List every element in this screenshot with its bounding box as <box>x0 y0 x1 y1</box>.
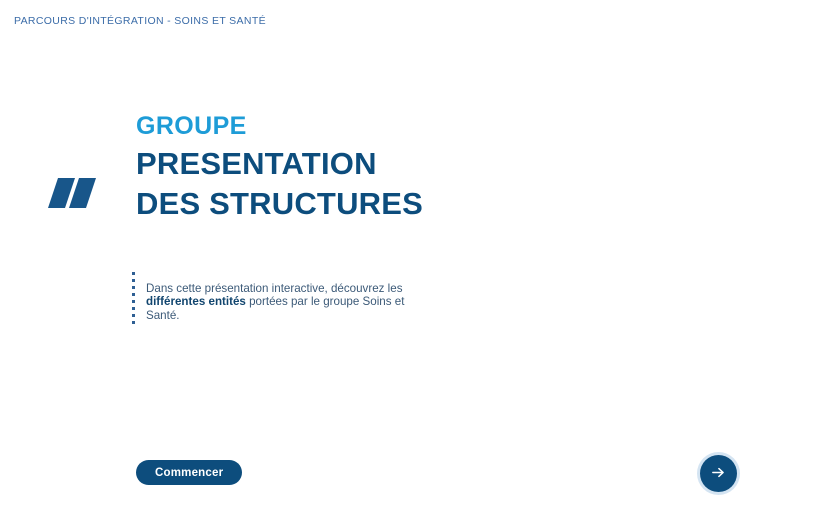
hero-heading-block: GROUPE PRESENTATION DES STRUCTURES <box>136 112 566 224</box>
intro-text-emphasis: différentes entités <box>146 295 246 308</box>
start-button[interactable]: Commencer <box>136 460 242 485</box>
arrow-right-icon <box>710 464 727 484</box>
next-button[interactable] <box>700 455 737 492</box>
intro-block: Dans cette présentation interactive, déc… <box>132 270 418 334</box>
breadcrumb: PARCOURS D'INTÉGRATION - SOINS ET SANTÉ <box>14 15 266 27</box>
dotted-rule-decoration <box>132 272 135 324</box>
hero-eyebrow: GROUPE <box>136 112 566 140</box>
intro-text-part-1: Dans cette présentation interactive, déc… <box>146 282 403 295</box>
slide-canvas: PARCOURS D'INTÉGRATION - SOINS ET SANTÉ … <box>0 0 834 522</box>
top-bar: PARCOURS D'INTÉGRATION - SOINS ET SANTÉ <box>0 0 834 42</box>
page-title-line-1: PRESENTATION <box>136 144 566 184</box>
page-title-line-2: DES STRUCTURES <box>136 184 566 224</box>
page-title: PRESENTATION DES STRUCTURES <box>136 144 566 224</box>
intro-paragraph: Dans cette présentation interactive, déc… <box>146 282 418 323</box>
quote-mark-icon <box>48 170 102 216</box>
